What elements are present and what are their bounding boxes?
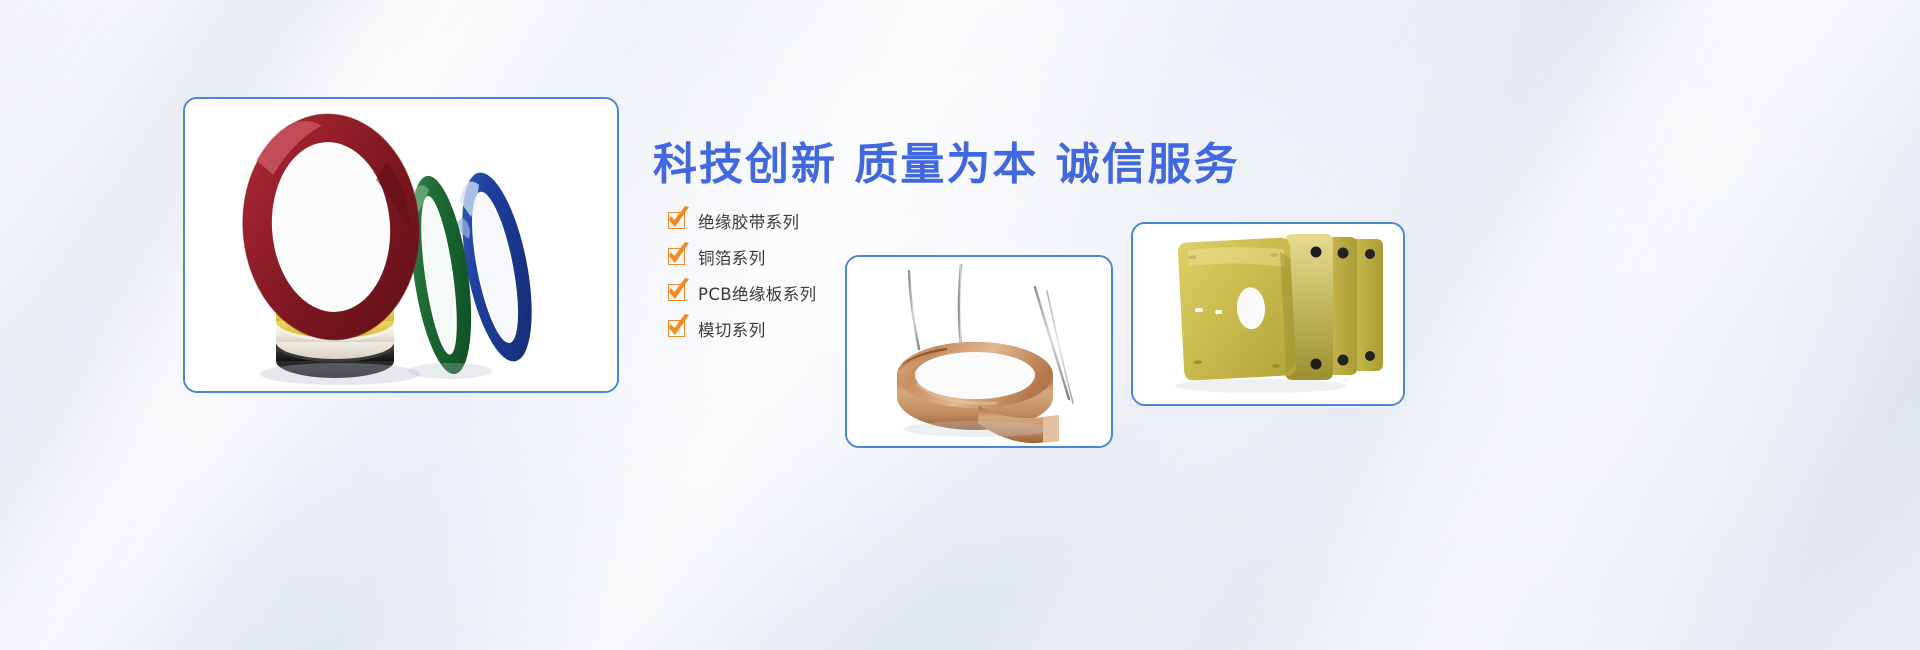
- pcb-board-front: [1177, 237, 1296, 381]
- pcb-boards-illustration: [1133, 224, 1403, 404]
- pcb-insulation-boards-photo: [1133, 224, 1403, 404]
- list-item-label: PCB绝缘板系列: [698, 281, 817, 305]
- check-icon: [668, 248, 685, 265]
- list-item[interactable]: 铜箔系列: [668, 239, 817, 274]
- check-icon: [668, 320, 685, 337]
- check-icon: [668, 284, 685, 301]
- product-card-insulation-tapes[interactable]: [183, 97, 619, 393]
- list-item[interactable]: 模切系列: [668, 311, 817, 346]
- page-title: 科技创新 质量为本 诚信服务: [653, 128, 1240, 192]
- tape-rolls-illustration: [185, 99, 617, 391]
- insulation-tape-rolls-photo: [185, 99, 617, 391]
- product-card-copper-foil[interactable]: [845, 255, 1113, 448]
- list-item[interactable]: 绝缘胶带系列: [668, 203, 817, 238]
- copper-foil-illustration: [847, 257, 1111, 446]
- promo-banner: 科技创新 质量为本 诚信服务 绝缘胶带系列 铜箔系列: [0, 0, 1920, 650]
- list-item-label: 铜箔系列: [698, 245, 766, 269]
- list-item-label: 模切系列: [698, 317, 766, 341]
- product-category-list: 绝缘胶带系列 铜箔系列 PCB绝缘板系列: [668, 203, 817, 347]
- list-item-label: 绝缘胶带系列: [698, 209, 799, 233]
- check-icon: [668, 212, 685, 229]
- pcb-board-back-stack: [1285, 234, 1383, 380]
- copper-foil-coil-photo: [847, 257, 1111, 446]
- list-item[interactable]: PCB绝缘板系列: [668, 275, 817, 310]
- product-card-pcb-boards[interactable]: [1131, 222, 1405, 406]
